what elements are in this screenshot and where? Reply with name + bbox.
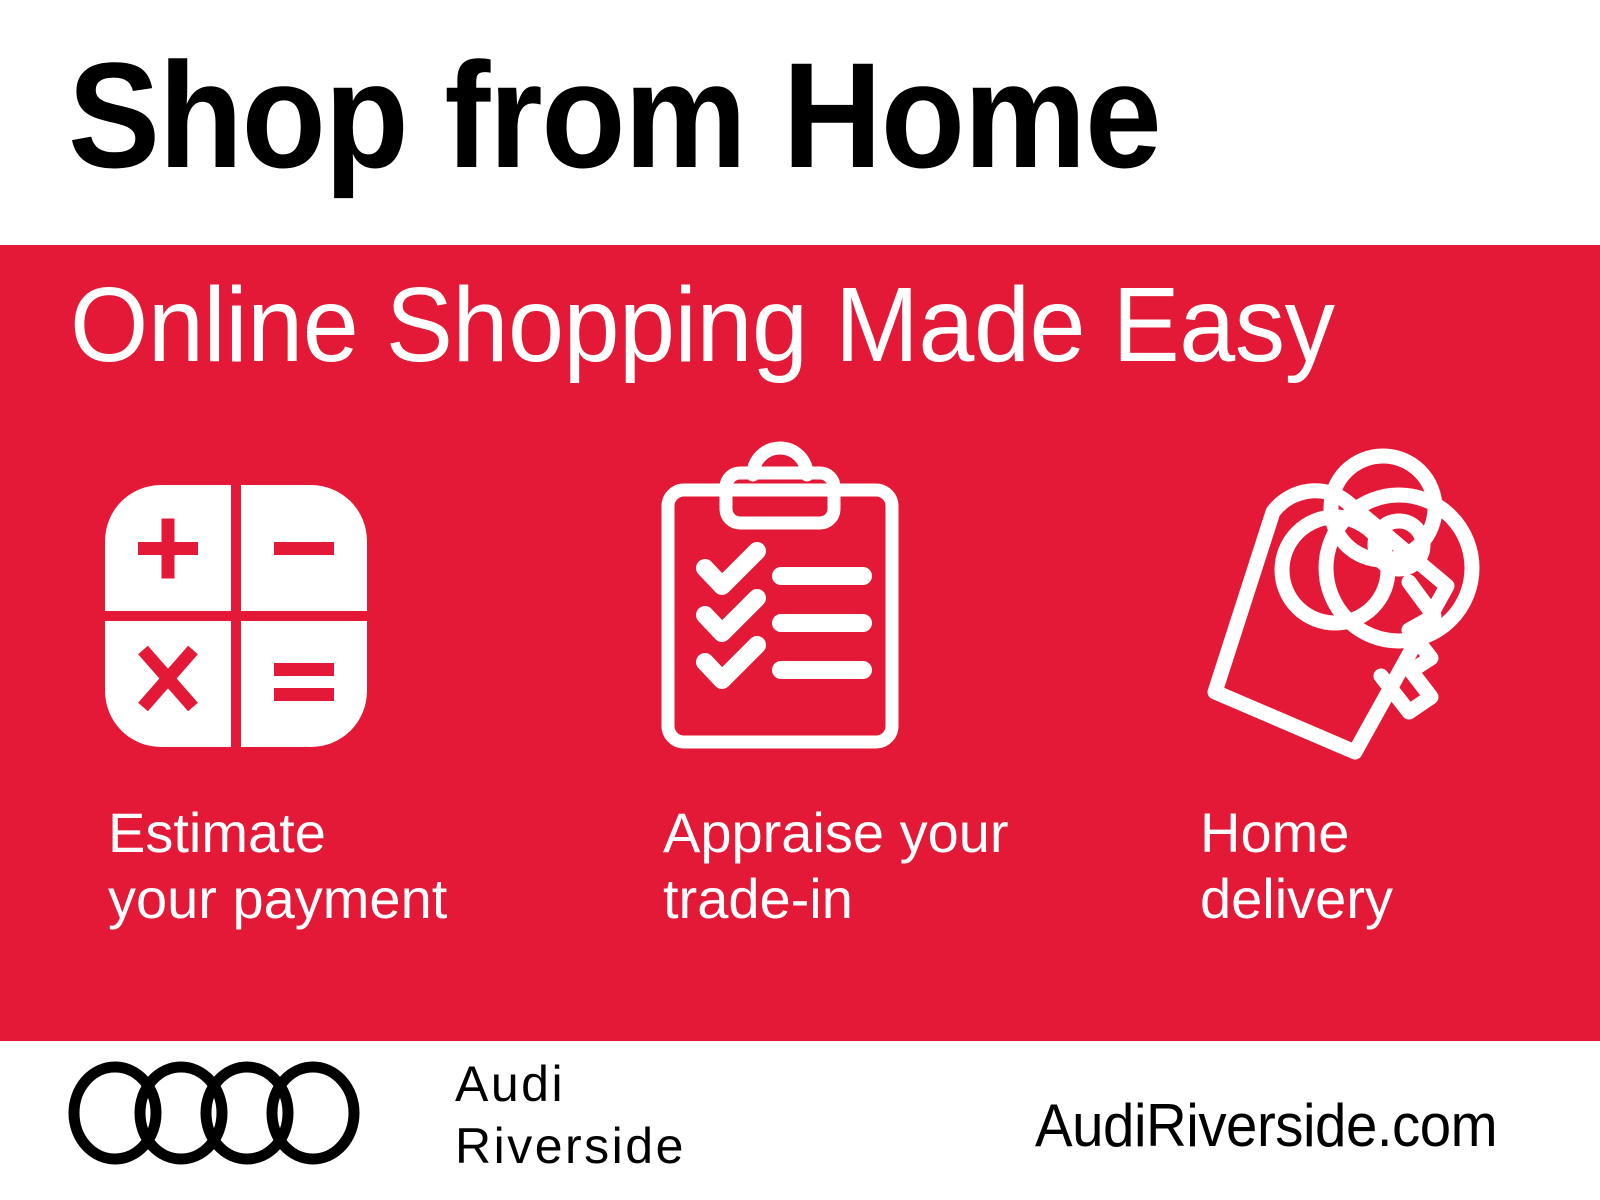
site-url[interactable]: AudiRiverside.com (1035, 1091, 1497, 1161)
header: Shop from Home (0, 0, 1600, 245)
feature-list: Estimate your payment (0, 430, 1600, 990)
footer: Audi Riverside AudiRiverside.com (0, 1041, 1600, 1200)
band-heading: Online Shopping Made Easy (70, 265, 1334, 385)
dealer-name: Audi Riverside (455, 1053, 686, 1177)
feature-estimate-payment[interactable]: Estimate your payment (100, 430, 580, 990)
feature-label: Appraise your trade-in (663, 800, 1009, 932)
audi-four-rings-logo (68, 1061, 360, 1165)
feature-label: Home delivery (1200, 800, 1393, 932)
feature-home-delivery[interactable]: Home delivery (1195, 430, 1600, 990)
clipboard-checklist-icon (660, 450, 900, 750)
feature-label: Estimate your payment (108, 800, 447, 932)
feature-appraise-trade-in[interactable]: Appraise your trade-in (655, 430, 1135, 990)
promo-band: Online Shopping Made Easy (0, 245, 1600, 1041)
calculator-icon (105, 485, 367, 747)
poster: Shop from Home Online Shopping Made Easy (0, 0, 1600, 1200)
page-title: Shop from Home (68, 36, 1160, 194)
tag-and-keys-icon (1195, 440, 1480, 760)
